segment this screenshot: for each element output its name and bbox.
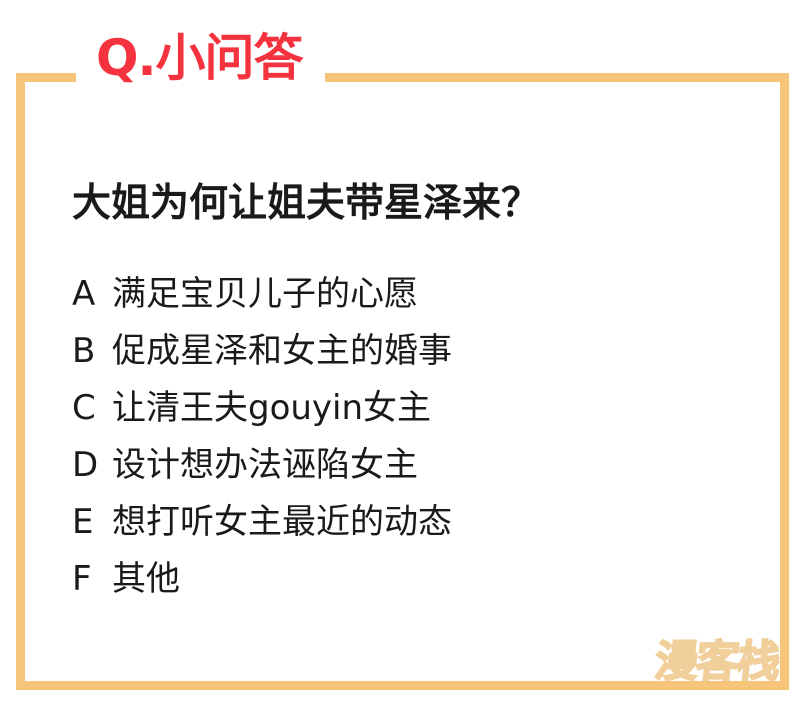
option-key-d: D [72, 445, 112, 485]
option-label-b: 促成星泽和女主的婚事 [112, 323, 712, 372]
option-key-c: C [72, 388, 112, 428]
option-row-a[interactable]: A 满足宝贝儿子的心愿 [72, 266, 712, 323]
option-row-c[interactable]: C 让清王夫gouyin女主 [72, 380, 712, 437]
frame-border-top-right [325, 73, 789, 82]
option-label-a: 满足宝贝儿子的心愿 [112, 266, 712, 315]
option-row-e[interactable]: E 想打听女主最近的动态 [72, 494, 712, 551]
option-label-d: 设计想办法诬陷女主 [112, 437, 712, 486]
option-key-b: B [72, 331, 112, 371]
option-key-e: E [72, 502, 112, 542]
quiz-header-title: Q.小问答 [90, 33, 309, 83]
quiz-card: Q.小问答 大姐为何让姐夫带星泽来？ A 满足宝贝儿子的心愿 B 促成星泽和女主… [0, 0, 800, 706]
option-label-e: 想打听女主最近的动态 [112, 494, 712, 543]
question-text: 大姐为何让姐夫带星泽来？ [72, 172, 540, 228]
frame-border-right [780, 73, 789, 690]
option-row-d[interactable]: D 设计想办法诬陷女主 [72, 437, 712, 494]
option-label-f: 其他 [112, 551, 712, 600]
option-row-f[interactable]: F 其他 [72, 551, 712, 608]
option-key-f: F [72, 559, 112, 599]
option-key-a: A [72, 274, 112, 314]
option-row-b[interactable]: B 促成星泽和女主的婚事 [72, 323, 712, 380]
site-watermark: 漫客栈 [653, 641, 781, 684]
frame-border-left [16, 73, 25, 690]
frame-border-top-left [16, 73, 76, 82]
option-label-c: 让清王夫gouyin女主 [112, 380, 712, 429]
options-list: A 满足宝贝儿子的心愿 B 促成星泽和女主的婚事 C 让清王夫gouyin女主 … [72, 266, 712, 608]
